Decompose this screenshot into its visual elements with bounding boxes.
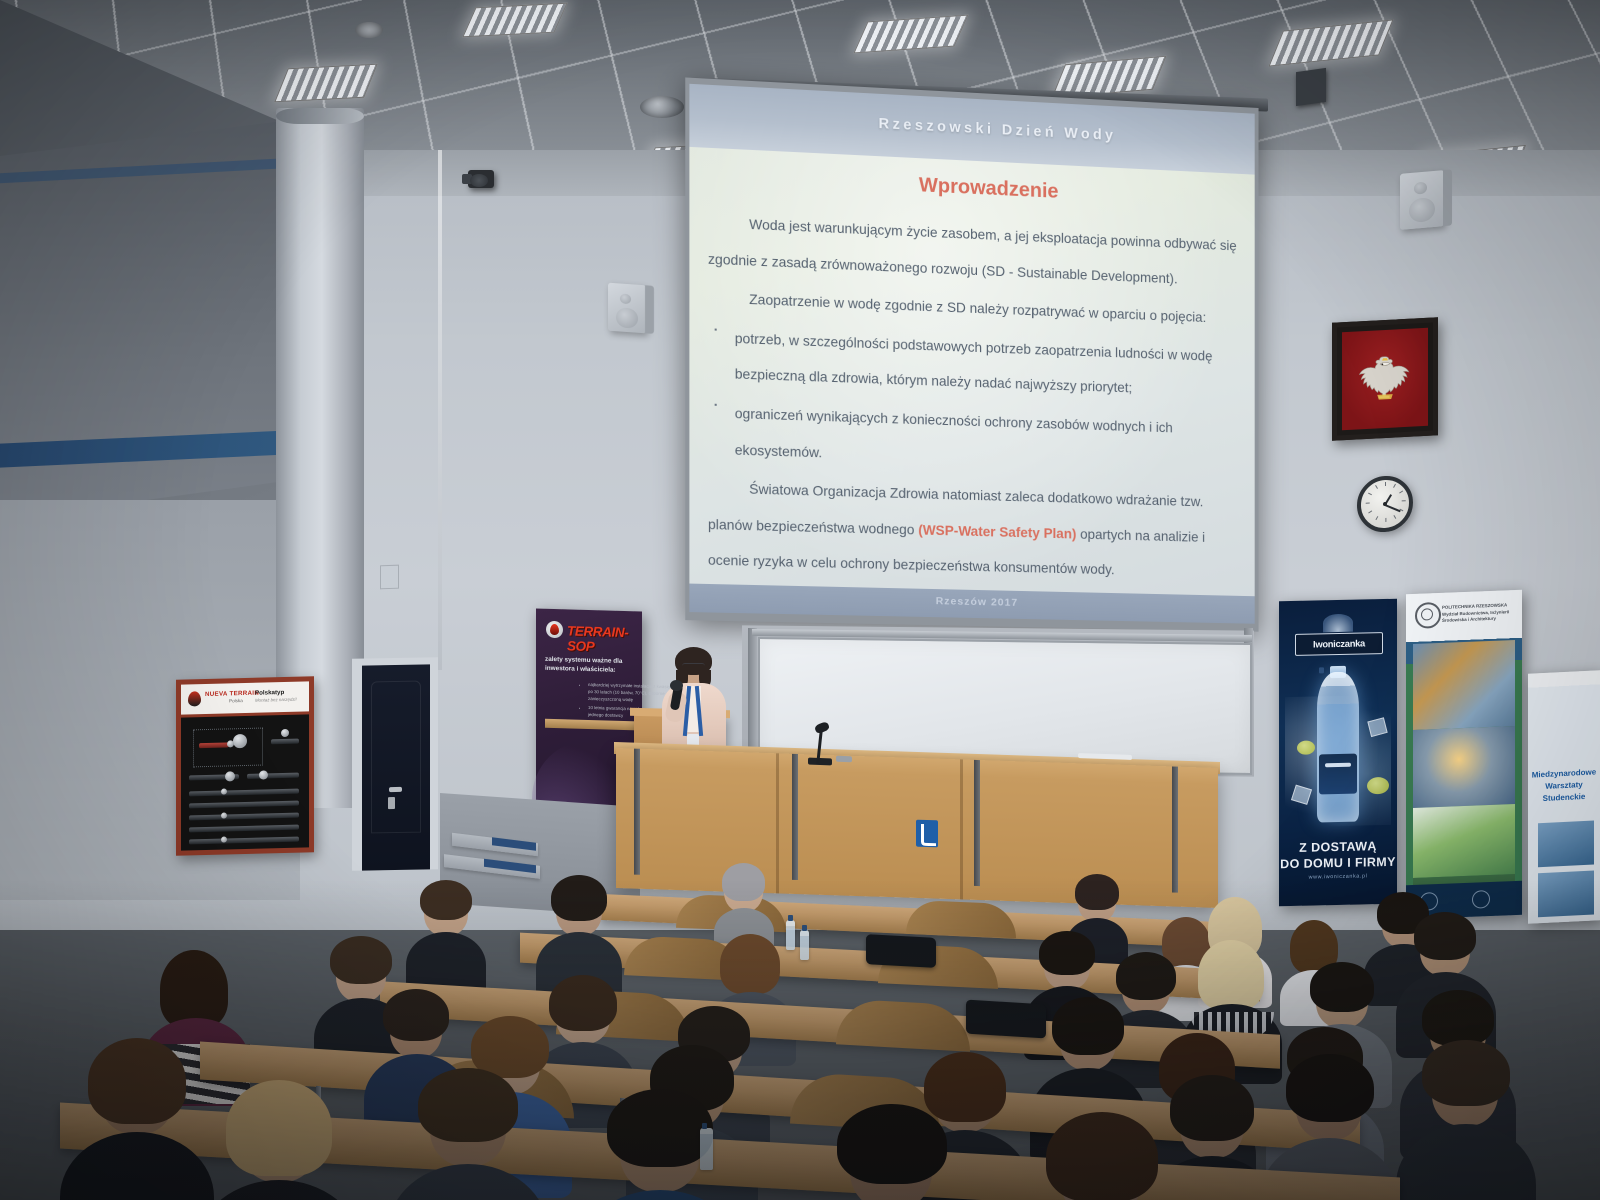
banner-institutional: POLITECHNIKA RZESZOWSKA Wydział Budownic… (1406, 590, 1522, 919)
board-brand: NUEVA TERRAIN (205, 690, 259, 698)
lecture-hall-photo: Rzeszowski Dzień Wody Wprowadzenie Woda … (0, 0, 1600, 1200)
door-handle[interactable] (389, 787, 402, 792)
banner-terrain-brand: TERRAIN-SOP (567, 623, 642, 655)
speaker-woofer-icon (1409, 197, 1435, 223)
banner-photo (1413, 640, 1515, 730)
iwoniczanka-url: www.iwoniczanka.pl (1279, 873, 1397, 881)
edge-poster-line: Studenckie (1528, 790, 1600, 806)
table-object (836, 756, 852, 763)
slide-closing: Światowa Organizacja Zdrowia natomiast z… (708, 470, 1247, 591)
iwoniczanka-brand: Iwoniczanka (1313, 637, 1365, 649)
poster-photo (1538, 871, 1594, 918)
handbag (966, 1000, 1046, 1039)
banner-terrain-plate (545, 719, 637, 731)
emblem-background (1342, 328, 1428, 431)
iwoniczanka-tagline-1: Z DOSTAWĄ (1279, 839, 1397, 855)
wall-speaker (1400, 170, 1444, 230)
board-brand-sub: Polska (229, 698, 243, 703)
nueva-terrain-logo-icon (188, 691, 201, 706)
ceiling-light-panel (274, 64, 378, 103)
ceiling-light-panel (462, 3, 567, 38)
banner-iwoniczanka: Iwoniczanka Z DOSTAWĄ DO DOMU I FIRMY ww… (1279, 599, 1397, 906)
wall-corner-edge (438, 150, 442, 670)
water-bottle (786, 920, 795, 950)
banner-photo (1413, 804, 1515, 878)
wall-speaker (608, 283, 646, 334)
projection-screen-frame: Rzeszowski Dzień Wody Wprowadzenie Woda … (685, 77, 1258, 631)
microphone-base (808, 758, 832, 766)
product-display-board: NUEVA TERRAIN Polska Polskatyp Montaż be… (176, 676, 314, 856)
polish-eagle-icon (1354, 346, 1416, 411)
speaker-woofer-icon (616, 307, 638, 329)
microphone-head-icon (670, 680, 683, 691)
iwoniczanka-tagline-2: DO DOMU I FIRMY (1279, 855, 1397, 871)
institution-name: POLITECHNIKA RZESZOWSKA Wydział Budownic… (1442, 602, 1514, 625)
water-bottle-graphic (1317, 672, 1359, 823)
university-logo-icon (1415, 602, 1441, 629)
banner-edge-poster: Miedzynarodowe Warsztaty Studenckie (1528, 670, 1600, 924)
iwoniczanka-crest-icon (1323, 614, 1353, 633)
ventilation-diffuser-icon (640, 96, 684, 118)
accessibility-sticker-icon (916, 820, 938, 848)
corner-speaker (1296, 68, 1326, 106)
poster-photo (1538, 821, 1594, 868)
speaker-tweeter-icon (1414, 182, 1427, 195)
iwoniczanka-brand-box: Iwoniczanka (1295, 632, 1383, 656)
terrain-logo-icon (546, 621, 563, 638)
banner-terrain-heading: zalety systemu ważne dla inwestora i wła… (545, 655, 637, 676)
wall-outlet-plate (380, 565, 399, 590)
board-header: NUEVA TERRAIN Polska Polskatyp Montaż be… (181, 681, 309, 714)
presenter-glasses-icon (682, 663, 705, 669)
bottle-label (1319, 754, 1357, 795)
board-brand-secondary: Polskatyp (255, 689, 284, 697)
national-emblem-frame (1332, 317, 1438, 441)
banner-photo (1413, 726, 1515, 808)
slide-bullet: ograniczeń wynikających z konieczności o… (708, 395, 1247, 483)
board-pipe-display (181, 714, 309, 850)
bag (866, 934, 936, 968)
edge-poster-title: Miedzynarodowe Warsztaty Studenckie (1528, 766, 1600, 806)
water-bottle (800, 930, 809, 960)
speaker-tweeter-icon (620, 294, 631, 305)
board-brand-secondary-sub: Montaż bez narzędzi! (255, 697, 297, 703)
bench-side-panel (836, 998, 970, 1051)
clock-minute-hand (1385, 504, 1401, 512)
door[interactable] (362, 664, 430, 870)
sprinkler-head-icon (355, 22, 383, 38)
water-bottle (700, 1128, 713, 1170)
slide-closing-highlight: (WSP-Water Safety Plan) (918, 522, 1076, 541)
smoke-detector-icon (470, 174, 488, 187)
slide-footer-text: Rzeszów 2017 (936, 595, 1018, 609)
partner-logo-icon (1472, 890, 1490, 909)
projection-screen: Rzeszowski Dzień Wody Wprowadzenie Woda … (689, 84, 1254, 624)
slide-body: Woda jest warunkującym życie zasobem, a … (708, 205, 1247, 594)
